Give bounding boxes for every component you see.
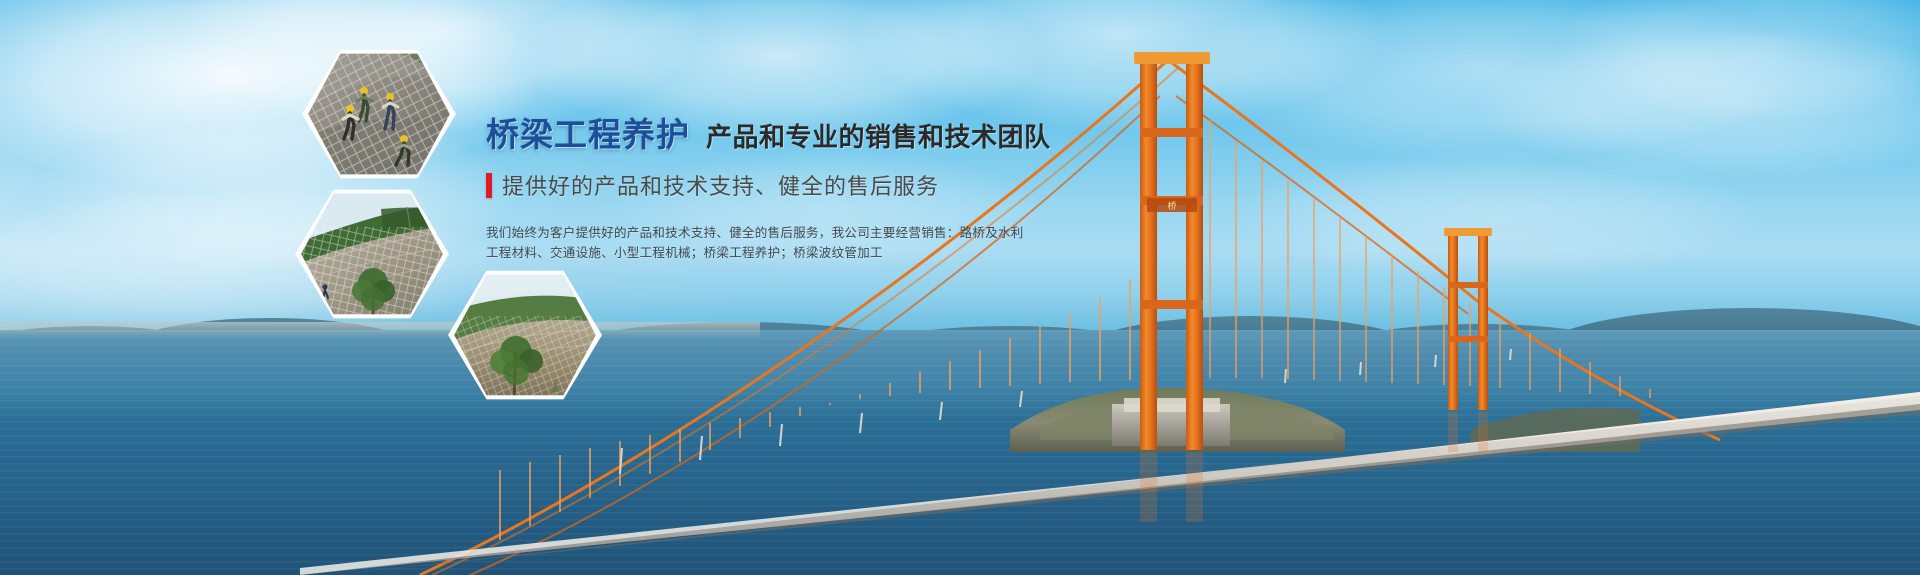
slope-mesh-workers-icon bbox=[302, 47, 456, 181]
hex-photo-roadside-mesh-vegetation[interactable] bbox=[448, 268, 602, 402]
hex-photo-hillside-mesh-slope-inner bbox=[295, 187, 449, 321]
hex-photo-slope-mesh-workers[interactable] bbox=[302, 47, 456, 181]
hex-photo-hillside-mesh-slope[interactable] bbox=[295, 187, 449, 321]
headline-main: 桥梁工程养护 bbox=[486, 118, 690, 151]
subheadline-text: 提供好的产品和技术支持、健全的售后服务 bbox=[502, 169, 939, 201]
headline-sub: 产品和专业的销售和技术团队 bbox=[706, 124, 1051, 150]
hex-photo-group bbox=[0, 0, 1920, 575]
body-line-1: 我们始终为客户提供好的产品和技术支持、健全的售后服务，我公司主要经营销售：路桥及… bbox=[486, 223, 1186, 243]
accent-bar-icon bbox=[486, 173, 492, 198]
hex-photo-slope-mesh-workers-inner bbox=[302, 47, 456, 181]
roadside-mesh-vegetation-icon bbox=[448, 268, 602, 402]
hex-photo-roadside-mesh-vegetation-inner bbox=[448, 268, 602, 402]
banner-text-block: 桥梁工程养护 产品和专业的销售和技术团队 提供好的产品和技术支持、健全的售后服务… bbox=[486, 118, 1186, 263]
banner-body-copy: 我们始终为客户提供好的产品和技术支持、健全的售后服务，我公司主要经营销售：路桥及… bbox=[486, 223, 1186, 263]
banner-subheadline: 提供好的产品和技术支持、健全的售后服务 bbox=[486, 169, 1186, 201]
hero-banner: 桥 bbox=[0, 0, 1920, 575]
hillside-mesh-slope-icon bbox=[295, 187, 449, 321]
body-line-2: 工程材料、交通设施、小型工程机械；桥梁工程养护；桥梁波纹管加工 bbox=[486, 243, 1186, 263]
banner-headline: 桥梁工程养护 产品和专业的销售和技术团队 bbox=[486, 118, 1186, 151]
